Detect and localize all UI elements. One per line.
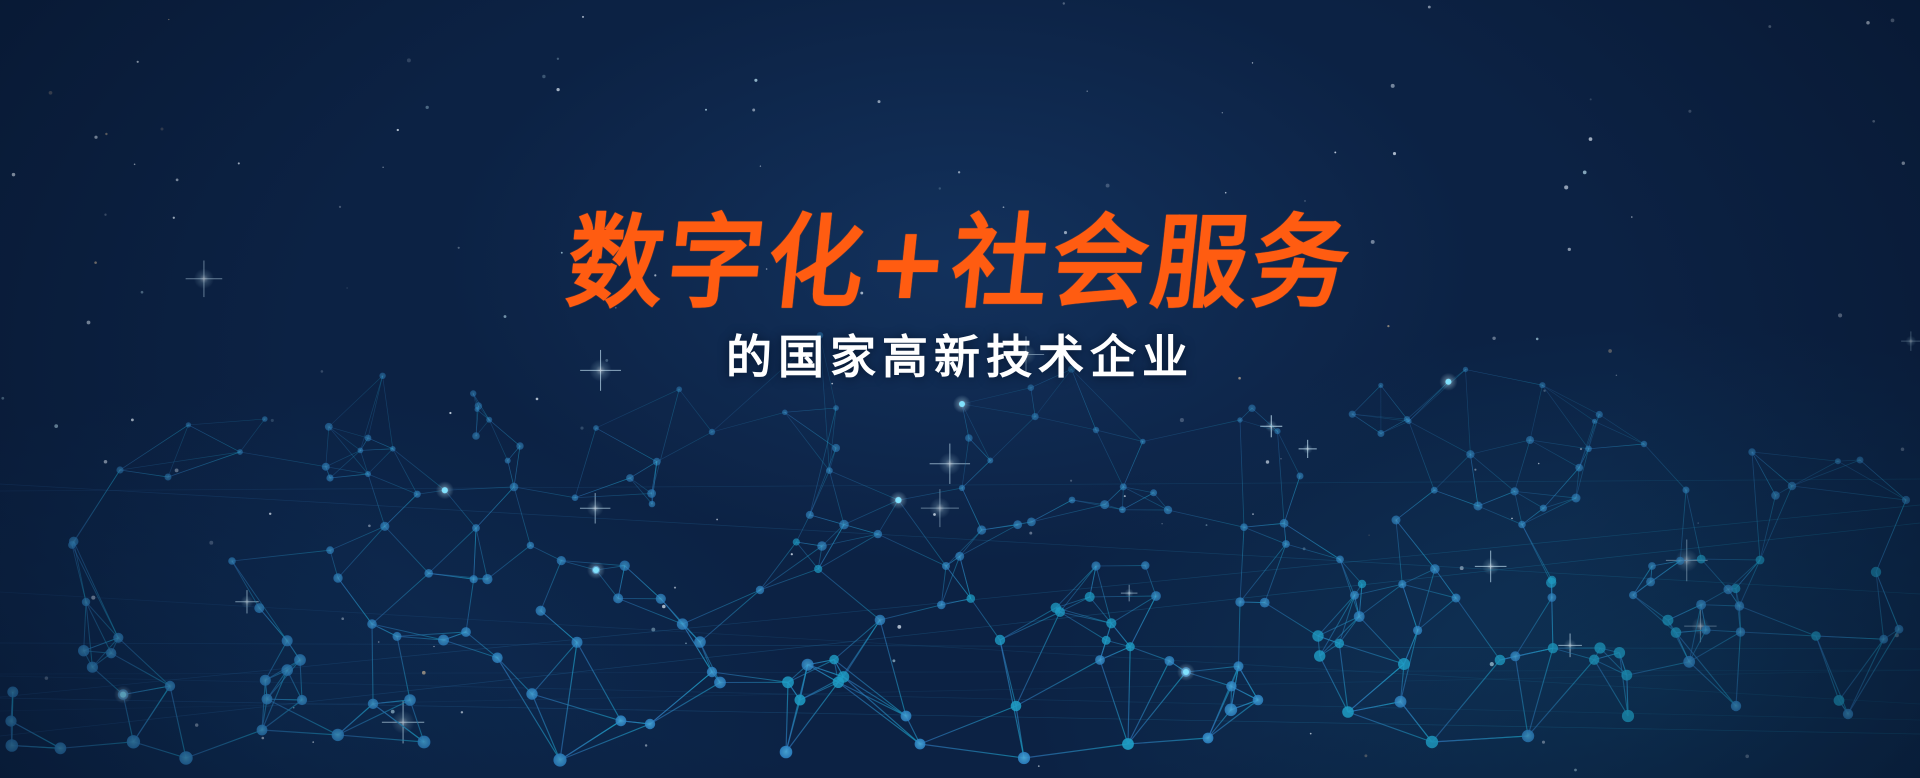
banner-headline: 数字化+社会服务 (0, 211, 1920, 317)
banner-root: 数字化+社会服务 的国家高新技术企业 (0, 0, 1920, 778)
banner-text-block: 数字化+社会服务 的国家高新技术企业 (0, 214, 1920, 385)
background-vignette (0, 0, 1920, 778)
banner-subtitle: 的国家高新技术企业 (0, 330, 1920, 385)
